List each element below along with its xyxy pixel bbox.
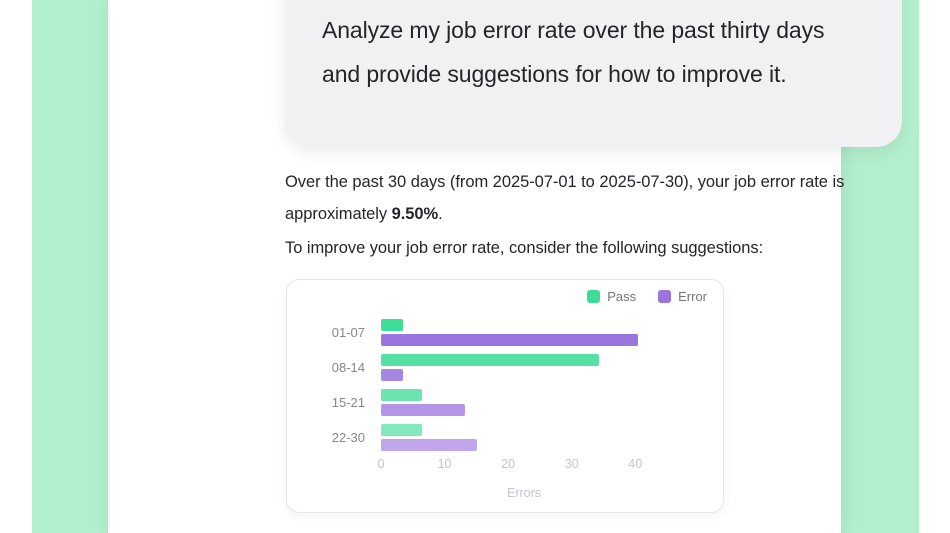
chart-bar-pass[interactable] [381, 354, 599, 366]
response-paragraph-1: Over the past 30 days (from 2025-07-01 t… [285, 166, 885, 230]
chart-row: 15-21 [287, 386, 725, 421]
chart-row-label: 15-21 [287, 395, 365, 410]
chart-row-label: 01-07 [287, 325, 365, 340]
chart-x-axis: 010203040 [381, 457, 667, 477]
error-rate-value: 9.50% [392, 205, 439, 223]
chart-bar-error[interactable] [381, 334, 638, 346]
chart-bar-error[interactable] [381, 439, 477, 451]
chart-bar-error[interactable] [381, 369, 403, 381]
error-rate-chart-card: PassError 01-0708-1415-2122-30 010203040… [286, 279, 724, 513]
decorative-band-left [32, 0, 108, 533]
chart-x-tick: 30 [565, 457, 579, 471]
chart-row-label: 22-30 [287, 430, 365, 445]
response-rate-prefix: Over the past 30 days (from 2025-07-01 t… [285, 173, 844, 223]
chart-x-tick: 40 [628, 457, 642, 471]
response-paragraph-2: To improve your job error rate, consider… [285, 232, 885, 264]
chart-row-bars [381, 421, 667, 456]
chart-bar-error[interactable] [381, 404, 465, 416]
chart-row: 01-07 [287, 316, 725, 351]
conversation-panel: Analyze my job error rate over the past … [110, 0, 841, 533]
chart-row: 08-14 [287, 351, 725, 386]
chart-bar-pass[interactable] [381, 424, 422, 436]
chart-x-tick: 20 [501, 457, 515, 471]
chart-row-bars [381, 386, 667, 421]
chart-bar-pass[interactable] [381, 319, 403, 331]
chart-x-axis-label: Errors [381, 486, 667, 500]
chart-legend: PassError [587, 289, 707, 304]
legend-label-pass: Pass [607, 289, 636, 304]
legend-swatch-error-icon [658, 290, 671, 303]
chart-row: 22-30 [287, 421, 725, 456]
legend-swatch-pass-icon [587, 290, 600, 303]
legend-item-error[interactable]: Error [658, 289, 707, 304]
user-prompt-text: Analyze my job error rate over the past … [322, 8, 864, 96]
chart-row-bars [381, 316, 667, 351]
legend-label-error: Error [678, 289, 707, 304]
chart-row-bars [381, 351, 667, 386]
chart-bar-rows: 01-0708-1415-2122-30 [287, 316, 725, 456]
chart-plot-area: 01-0708-1415-2122-30 010203040 Errors [287, 316, 725, 514]
chart-x-tick: 0 [378, 457, 385, 471]
chart-bar-pass[interactable] [381, 389, 422, 401]
chart-x-tick: 10 [438, 457, 452, 471]
chart-row-label: 08-14 [287, 360, 365, 375]
legend-item-pass[interactable]: Pass [587, 289, 636, 304]
response-rate-suffix: . [438, 205, 443, 223]
user-prompt-bubble: Analyze my job error rate over the past … [284, 0, 902, 147]
assistant-response: Over the past 30 days (from 2025-07-01 t… [285, 166, 885, 264]
